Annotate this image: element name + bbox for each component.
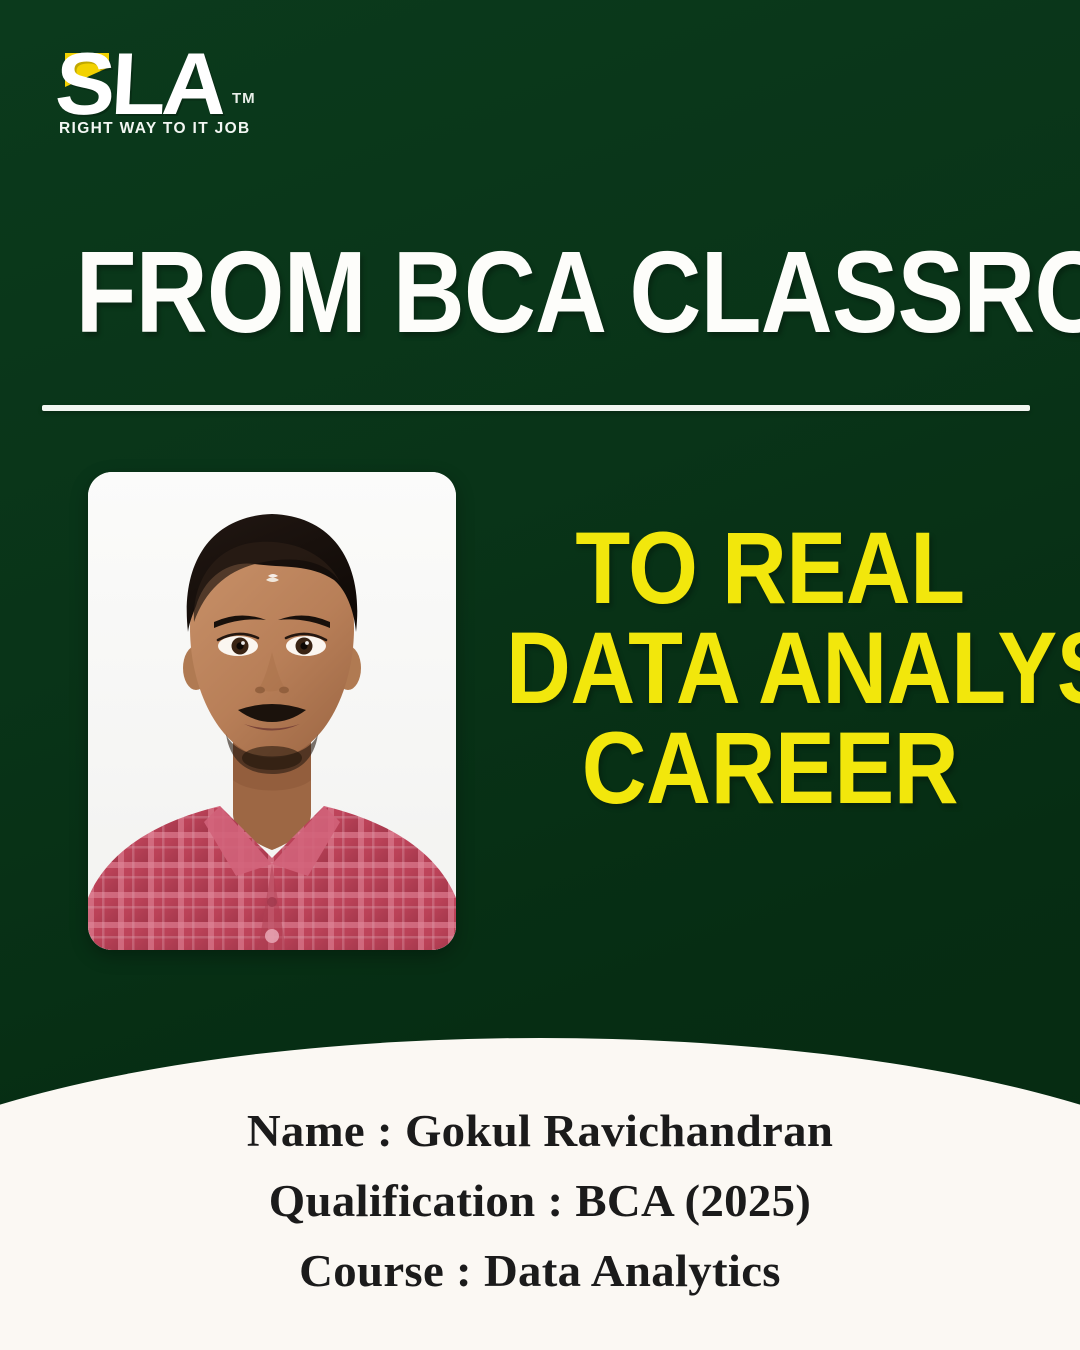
detail-row-qualification: Qualification : BCA (2025) xyxy=(0,1166,1080,1236)
subtitle: TO REAL DATA ANALYST CAREER xyxy=(506,518,1034,818)
student-details: Name : Gokul Ravichandran Qualification … xyxy=(0,1096,1080,1306)
subtitle-line-2: DATA ANALYST xyxy=(506,618,1034,718)
poster-root: SLA TM RIGHT WAY TO IT JOB FROM BCA CLAS… xyxy=(0,0,1080,1350)
portrait-illustration xyxy=(88,472,456,950)
page-title: FROM BCA CLASSROOM xyxy=(76,236,1005,348)
subtitle-line-1: TO REAL xyxy=(506,518,1034,618)
subtitle-line-3: CAREER xyxy=(506,718,1034,818)
trademark-icon: TM xyxy=(232,90,256,107)
horizontal-divider xyxy=(42,405,1030,411)
student-photo xyxy=(88,472,456,950)
brand-logo: SLA TM RIGHT WAY TO IT JOB xyxy=(52,42,312,152)
logo-wordmark: SLA xyxy=(53,40,225,128)
logo-tagline: RIGHT WAY TO IT JOB xyxy=(59,120,251,138)
detail-row-course: Course : Data Analytics xyxy=(0,1236,1080,1306)
detail-row-name: Name : Gokul Ravichandran xyxy=(0,1096,1080,1166)
